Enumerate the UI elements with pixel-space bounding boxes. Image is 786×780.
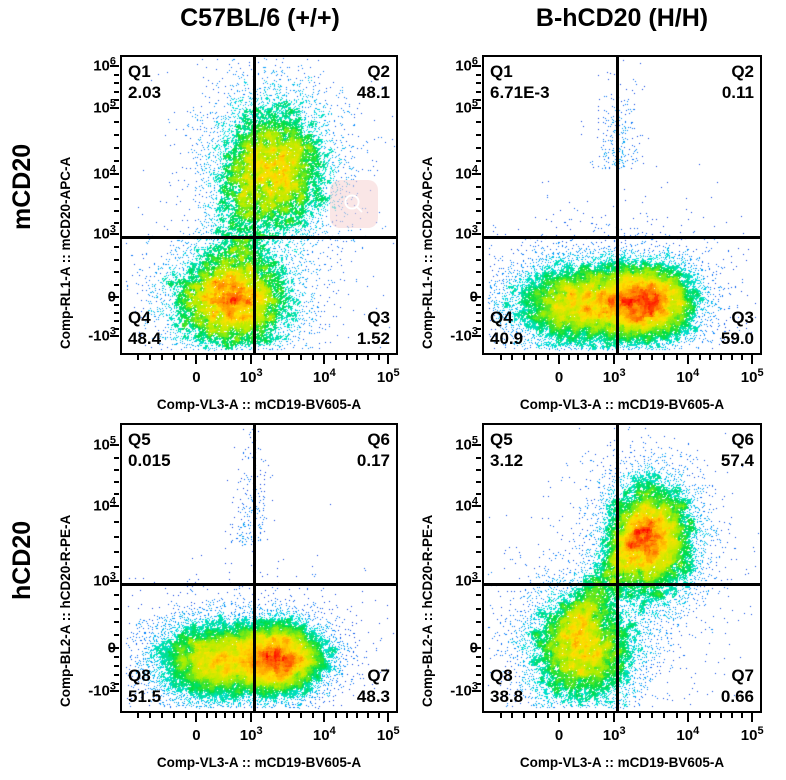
quadrant-horizontal-gate[interactable] <box>122 236 396 239</box>
y-axis-minor-tick <box>476 147 481 149</box>
x-axis-tick-label: 0 <box>192 727 200 744</box>
y-axis-minor-tick <box>476 674 481 676</box>
x-axis-tick-mark <box>558 355 560 364</box>
y-axis-minor-tick <box>114 198 119 200</box>
y-axis-minor-tick <box>476 493 481 495</box>
x-axis-minor-tick <box>215 713 217 718</box>
x-axis-tick-label: 104 <box>313 727 336 744</box>
x-axis-minor-tick <box>596 355 598 360</box>
y-axis-minor-tick <box>476 621 481 623</box>
x-axis-minor-tick <box>161 713 163 718</box>
x-axis-minor-tick <box>720 355 722 360</box>
quadrant-label-q8: Q8 51.5 <box>128 665 161 708</box>
quadrant-horizontal-gate[interactable] <box>484 583 760 586</box>
x-axis-tick-mark <box>751 713 753 722</box>
quadrant-label-q5: Q5 3.12 <box>490 429 523 472</box>
x-axis-tick-label: 105 <box>377 369 400 386</box>
x-axis-minor-tick <box>233 355 235 360</box>
x-axis-minor-tick <box>587 355 589 360</box>
y-axis-tick-mark <box>110 647 119 649</box>
quadrant-value: 59.0 <box>721 328 754 349</box>
quadrant-vertical-gate[interactable] <box>253 425 256 711</box>
quadrant-label-q3: Q3 59.0 <box>721 307 754 350</box>
x-axis-minor-tick <box>626 713 628 718</box>
y-axis-minor-tick <box>476 82 481 84</box>
x-axis-minor-tick <box>651 355 653 360</box>
quadrant-horizontal-gate[interactable] <box>122 583 396 586</box>
y-axis-minor-tick <box>476 304 481 306</box>
quadrant-value: 38.8 <box>490 686 523 707</box>
quadrant-label-q1: Q1 2.03 <box>128 61 161 104</box>
x-axis-tick-mark <box>613 355 615 364</box>
x-axis-label: Comp-VL3-A :: mCD19-BV605-A <box>120 755 398 770</box>
x-axis-minor-tick <box>276 355 278 360</box>
y-axis-minor-tick <box>114 134 119 136</box>
y-axis-minor-tick <box>114 99 119 101</box>
quadrant-label-q6: Q6 0.17 <box>357 429 390 472</box>
plot-area[interactable]: Q5 3.12 Q6 57.4 Q7 0.66 Q8 38.8 <box>482 423 762 713</box>
y-axis-minor-tick <box>476 634 481 636</box>
y-axis-tick-mark <box>472 335 481 337</box>
x-axis-minor-tick <box>676 355 678 360</box>
y-axis-minor-tick <box>114 259 119 261</box>
y-axis-minor-tick <box>114 469 119 471</box>
density-dot-canvas <box>484 425 760 711</box>
y-axis-minor-tick <box>476 74 481 76</box>
y-axis-minor-tick <box>114 566 119 568</box>
x-axis-minor-tick <box>731 713 733 718</box>
x-axis-minor-tick <box>523 713 525 718</box>
x-axis-minor-tick <box>547 355 549 360</box>
x-axis-tick-label: 105 <box>741 727 764 744</box>
quadrant-value: 0.015 <box>128 450 171 471</box>
x-axis-label: Comp-VL3-A :: mCD19-BV605-A <box>482 397 762 412</box>
flow-cytometry-figure: C57BL/6 (+/+) B-hCD20 (H/H) mCD20 hCD20 … <box>0 0 786 780</box>
y-axis-tick-mark <box>110 233 119 235</box>
x-axis-minor-tick <box>173 355 175 360</box>
y-axis-tick-mark <box>472 647 481 649</box>
quadrant-name: Q2 <box>357 61 390 82</box>
y-axis-minor-tick <box>476 328 481 330</box>
x-axis-minor-tick <box>346 713 348 718</box>
y-axis-minor-tick <box>114 493 119 495</box>
y-axis-tick-mark <box>472 233 481 235</box>
x-axis-minor-tick <box>535 355 537 360</box>
x-axis-minor-tick <box>568 355 570 360</box>
x-axis-minor-tick <box>639 355 641 360</box>
quadrant-value: 3.12 <box>490 450 523 471</box>
x-axis-tick-mark <box>387 355 389 364</box>
y-axis-minor-tick <box>114 222 119 224</box>
y-axis-minor-tick <box>114 328 119 330</box>
y-axis-minor-tick <box>476 134 481 136</box>
y-axis-minor-tick <box>476 99 481 101</box>
y-axis-minor-tick <box>114 683 119 685</box>
search-icon-watermark <box>330 180 378 228</box>
quadrant-value: 0.66 <box>721 686 754 707</box>
y-axis-minor-tick <box>114 481 119 483</box>
y-axis-minor-tick <box>476 259 481 261</box>
quadrant-name: Q3 <box>721 307 754 328</box>
y-axis-minor-tick <box>476 608 481 610</box>
x-axis-tick-label: 105 <box>377 727 400 744</box>
y-axis-minor-tick <box>114 246 119 248</box>
x-axis-minor-tick <box>335 713 337 718</box>
y-axis-minor-tick <box>476 320 481 322</box>
x-axis-minor-tick <box>335 355 337 360</box>
x-axis-minor-tick <box>242 355 244 360</box>
x-axis-minor-tick <box>547 713 549 718</box>
row-label-mcd20: mCD20 <box>8 144 37 230</box>
y-axis-tick-mark <box>110 173 119 175</box>
y-axis-minor-tick <box>476 198 481 200</box>
quadrant-label-q3: Q3 1.52 <box>357 307 390 350</box>
x-axis-minor-tick <box>206 713 208 718</box>
y-axis-minor-tick <box>114 608 119 610</box>
quadrant-name: Q4 <box>128 307 161 328</box>
quadrant-value: 0.11 <box>722 82 754 103</box>
x-axis-minor-tick <box>500 355 502 360</box>
x-axis-tick-mark <box>250 355 252 364</box>
y-axis-minor-tick <box>114 656 119 658</box>
x-axis-minor-tick <box>137 713 139 718</box>
y-axis-minor-tick <box>476 284 481 286</box>
y-axis-minor-tick <box>114 121 119 123</box>
x-axis-minor-tick <box>356 713 358 718</box>
x-axis-tick-mark <box>387 713 389 722</box>
x-axis-minor-tick <box>699 355 701 360</box>
y-axis-tick-mark <box>110 580 119 582</box>
y-axis-tick-mark <box>472 107 481 109</box>
y-axis-minor-tick <box>476 665 481 667</box>
quadrant-vertical-gate[interactable] <box>616 57 619 353</box>
y-axis-minor-tick <box>114 284 119 286</box>
quadrant-value: 40.9 <box>490 328 523 349</box>
x-axis-label: Comp-VL3-A :: mCD19-BV605-A <box>482 755 762 770</box>
y-axis-minor-tick <box>114 312 119 314</box>
y-axis-minor-tick <box>476 683 481 685</box>
x-axis-minor-tick <box>215 355 217 360</box>
x-axis-minor-tick <box>587 713 589 718</box>
quadrant-name: Q7 <box>721 665 754 686</box>
y-axis-minor-tick <box>114 536 119 538</box>
x-axis-tick-label: 103 <box>240 727 263 744</box>
x-axis-minor-tick <box>288 355 290 360</box>
x-axis-tick-mark <box>195 355 197 364</box>
x-axis-tick-mark <box>195 713 197 722</box>
x-axis-minor-tick <box>161 355 163 360</box>
y-axis-minor-tick <box>476 551 481 553</box>
y-axis-label: Comp-RL1-A :: mCD20-APC-A <box>420 157 435 349</box>
quadrant-value: 48.4 <box>128 328 161 349</box>
y-axis-tick-mark <box>472 690 481 692</box>
x-axis-minor-tick <box>639 713 641 718</box>
quadrant-label-q2: Q2 48.1 <box>357 61 390 104</box>
y-axis-tick-mark <box>110 296 119 298</box>
y-axis-minor-tick <box>476 160 481 162</box>
x-axis-minor-tick <box>651 713 653 718</box>
y-axis-minor-tick <box>114 91 119 93</box>
search-icon <box>341 191 367 217</box>
quadrant-value: 2.03 <box>128 82 161 103</box>
quadrant-label-q6: Q6 57.4 <box>721 429 754 472</box>
y-axis-minor-tick <box>114 320 119 322</box>
x-axis-minor-tick <box>276 713 278 718</box>
y-axis-minor-tick <box>114 160 119 162</box>
y-axis-minor-tick <box>114 147 119 149</box>
quadrant-vertical-gate[interactable] <box>616 425 619 711</box>
x-axis-minor-tick <box>663 355 665 360</box>
y-axis-minor-tick <box>114 457 119 459</box>
x-axis-minor-tick <box>663 713 665 718</box>
x-axis-tick-mark <box>558 713 560 722</box>
plot-area[interactable]: Q5 0.015 Q6 0.17 Q7 48.3 Q8 51.5 <box>120 423 398 713</box>
column-title-wildtype: C57BL/6 (+/+) <box>120 4 400 33</box>
x-axis-minor-tick <box>288 713 290 718</box>
x-axis-minor-tick <box>149 355 151 360</box>
y-axis-minor-tick <box>114 621 119 623</box>
x-axis-tick-mark <box>613 713 615 722</box>
x-axis-tick-label: 103 <box>603 727 626 744</box>
x-axis-minor-tick <box>605 713 607 718</box>
x-axis-minor-tick <box>709 713 711 718</box>
quadrant-name: Q1 <box>128 61 161 82</box>
y-axis-minor-tick <box>476 246 481 248</box>
x-axis-minor-tick <box>242 713 244 718</box>
y-axis-minor-tick <box>114 521 119 523</box>
x-axis-minor-tick <box>500 713 502 718</box>
x-axis-minor-tick <box>709 355 711 360</box>
x-axis-minor-tick <box>577 713 579 718</box>
x-axis-tick-label: 103 <box>240 369 263 386</box>
y-axis-minor-tick <box>114 74 119 76</box>
x-axis-minor-tick <box>149 713 151 718</box>
quadrant-label-q2: Q2 0.11 <box>722 61 754 104</box>
x-axis-minor-tick <box>224 355 226 360</box>
x-axis-minor-tick <box>535 713 537 718</box>
y-axis-minor-tick <box>114 210 119 212</box>
y-axis-label: Comp-BL2-A :: hCD20-R-PE-A <box>58 515 73 707</box>
y-axis-minor-tick <box>114 634 119 636</box>
y-axis-minor-tick <box>114 665 119 667</box>
x-axis-minor-tick <box>137 355 139 360</box>
plot-area[interactable]: Q1 2.03 Q2 48.1 Q3 1.52 Q4 48.4 <box>120 55 398 355</box>
x-axis-minor-tick <box>173 713 175 718</box>
y-axis-tick-mark <box>472 173 481 175</box>
y-axis-minor-tick <box>114 186 119 188</box>
x-axis-minor-tick <box>263 355 265 360</box>
y-axis-label: Comp-RL1-A :: mCD20-APC-A <box>58 157 73 349</box>
x-axis-minor-tick <box>577 355 579 360</box>
x-axis-tick-label: 0 <box>192 369 200 386</box>
x-axis-minor-tick <box>626 355 628 360</box>
x-axis-minor-tick <box>263 713 265 718</box>
x-axis-tick-label: 105 <box>741 369 764 386</box>
x-axis-tick-mark <box>250 713 252 722</box>
quadrant-name: Q1 <box>490 61 550 82</box>
x-axis-minor-tick <box>511 355 513 360</box>
quadrant-name: Q3 <box>357 307 390 328</box>
y-axis-tick-mark <box>472 65 481 67</box>
y-axis-minor-tick <box>476 469 481 471</box>
x-axis-minor-tick <box>312 355 314 360</box>
x-axis-tick-label: 104 <box>676 369 699 386</box>
quadrant-name: Q7 <box>357 665 390 686</box>
x-axis-tick-label: 0 <box>555 369 563 386</box>
x-axis-minor-tick <box>378 355 380 360</box>
x-axis-minor-tick <box>300 713 302 718</box>
quadrant-label-q7: Q7 48.3 <box>357 665 390 708</box>
y-axis-tick-mark <box>472 444 481 446</box>
x-axis-minor-tick <box>185 355 187 360</box>
x-axis-minor-tick <box>367 355 369 360</box>
x-axis-minor-tick <box>346 355 348 360</box>
quadrant-value: 57.4 <box>721 450 754 471</box>
y-axis-minor-tick <box>114 82 119 84</box>
y-axis-tick-mark <box>110 335 119 337</box>
x-axis-minor-tick <box>676 713 678 718</box>
y-axis-minor-tick <box>476 312 481 314</box>
quadrant-label-q8: Q8 38.8 <box>490 665 523 708</box>
quadrant-name: Q8 <box>128 665 161 686</box>
y-axis-minor-tick <box>476 210 481 212</box>
x-axis-tick-mark <box>751 355 753 364</box>
x-axis-minor-tick <box>605 355 607 360</box>
x-axis-minor-tick <box>312 713 314 718</box>
y-axis-minor-tick <box>476 594 481 596</box>
x-axis-minor-tick <box>356 355 358 360</box>
quadrant-horizontal-gate[interactable] <box>484 236 760 239</box>
quadrant-name: Q8 <box>490 665 523 686</box>
quadrant-vertical-gate[interactable] <box>253 57 256 353</box>
quadrant-name: Q6 <box>357 429 390 450</box>
y-axis-tick-mark <box>472 505 481 507</box>
y-axis-minor-tick <box>476 521 481 523</box>
x-axis-minor-tick <box>568 713 570 718</box>
y-axis-minor-tick <box>476 271 481 273</box>
x-axis-minor-tick <box>596 713 598 718</box>
quadrant-name: Q6 <box>721 429 754 450</box>
x-axis-minor-tick <box>233 713 235 718</box>
y-axis-tick-mark <box>472 580 481 582</box>
quadrant-value: 0.17 <box>357 450 390 471</box>
y-axis-tick-mark <box>110 107 119 109</box>
y-axis-minor-tick <box>476 222 481 224</box>
y-axis-minor-tick <box>476 186 481 188</box>
row-label-hcd20: hCD20 <box>8 521 37 600</box>
y-axis-tick-mark <box>110 690 119 692</box>
y-axis-tick-mark <box>110 65 119 67</box>
x-axis-tick-label: 104 <box>676 727 699 744</box>
x-axis-label: Comp-VL3-A :: mCD19-BV605-A <box>120 397 398 412</box>
x-axis-minor-tick <box>511 713 513 718</box>
quadrant-value: 48.3 <box>357 686 390 707</box>
x-axis-tick-label: 0 <box>555 727 563 744</box>
x-axis-minor-tick <box>185 713 187 718</box>
plot-area[interactable]: Q1 6.71E-3 Q2 0.11 Q3 59.0 Q4 40.9 <box>482 55 762 355</box>
quadrant-name: Q5 <box>128 429 171 450</box>
x-axis-minor-tick <box>699 713 701 718</box>
y-axis-minor-tick <box>476 121 481 123</box>
y-axis-minor-tick <box>114 271 119 273</box>
column-title-humanized: B-hCD20 (H/H) <box>482 4 762 33</box>
x-axis-tick-mark <box>323 713 325 722</box>
x-axis-minor-tick <box>224 713 226 718</box>
x-axis-tick-mark <box>687 355 689 364</box>
quadrant-value: 48.1 <box>357 82 390 103</box>
quadrant-value: 1.52 <box>357 328 390 349</box>
y-axis-minor-tick <box>114 594 119 596</box>
quadrant-name: Q4 <box>490 307 523 328</box>
y-axis-minor-tick <box>114 551 119 553</box>
y-axis-minor-tick <box>476 457 481 459</box>
x-axis-minor-tick <box>720 713 722 718</box>
y-axis-minor-tick <box>476 91 481 93</box>
quadrant-label-q7: Q7 0.66 <box>721 665 754 708</box>
quadrant-value: 51.5 <box>128 686 161 707</box>
y-axis-minor-tick <box>114 304 119 306</box>
quadrant-name: Q2 <box>722 61 754 82</box>
quadrant-name: Q5 <box>490 429 523 450</box>
quadrant-label-q4: Q4 40.9 <box>490 307 523 350</box>
y-axis-label: Comp-BL2-A :: hCD20-R-PE-A <box>420 515 435 707</box>
y-axis-minor-tick <box>476 536 481 538</box>
x-axis-minor-tick <box>378 713 380 718</box>
y-axis-minor-tick <box>476 481 481 483</box>
x-axis-minor-tick <box>741 713 743 718</box>
x-axis-minor-tick <box>523 355 525 360</box>
y-axis-minor-tick <box>476 656 481 658</box>
y-axis-tick-mark <box>472 296 481 298</box>
x-axis-tick-mark <box>687 713 689 722</box>
y-axis-minor-tick <box>476 566 481 568</box>
x-axis-minor-tick <box>367 713 369 718</box>
y-axis-tick-mark <box>110 505 119 507</box>
quadrant-label-q1: Q1 6.71E-3 <box>490 61 550 104</box>
x-axis-minor-tick <box>741 355 743 360</box>
quadrant-label-q4: Q4 48.4 <box>128 307 161 350</box>
x-axis-tick-label: 103 <box>603 369 626 386</box>
x-axis-minor-tick <box>731 355 733 360</box>
quadrant-value: 6.71E-3 <box>490 82 550 103</box>
y-axis-tick-mark <box>110 444 119 446</box>
x-axis-tick-mark <box>323 355 325 364</box>
x-axis-minor-tick <box>300 355 302 360</box>
x-axis-tick-label: 104 <box>313 369 336 386</box>
x-axis-minor-tick <box>206 355 208 360</box>
quadrant-label-q5: Q5 0.015 <box>128 429 171 472</box>
y-axis-minor-tick <box>114 674 119 676</box>
